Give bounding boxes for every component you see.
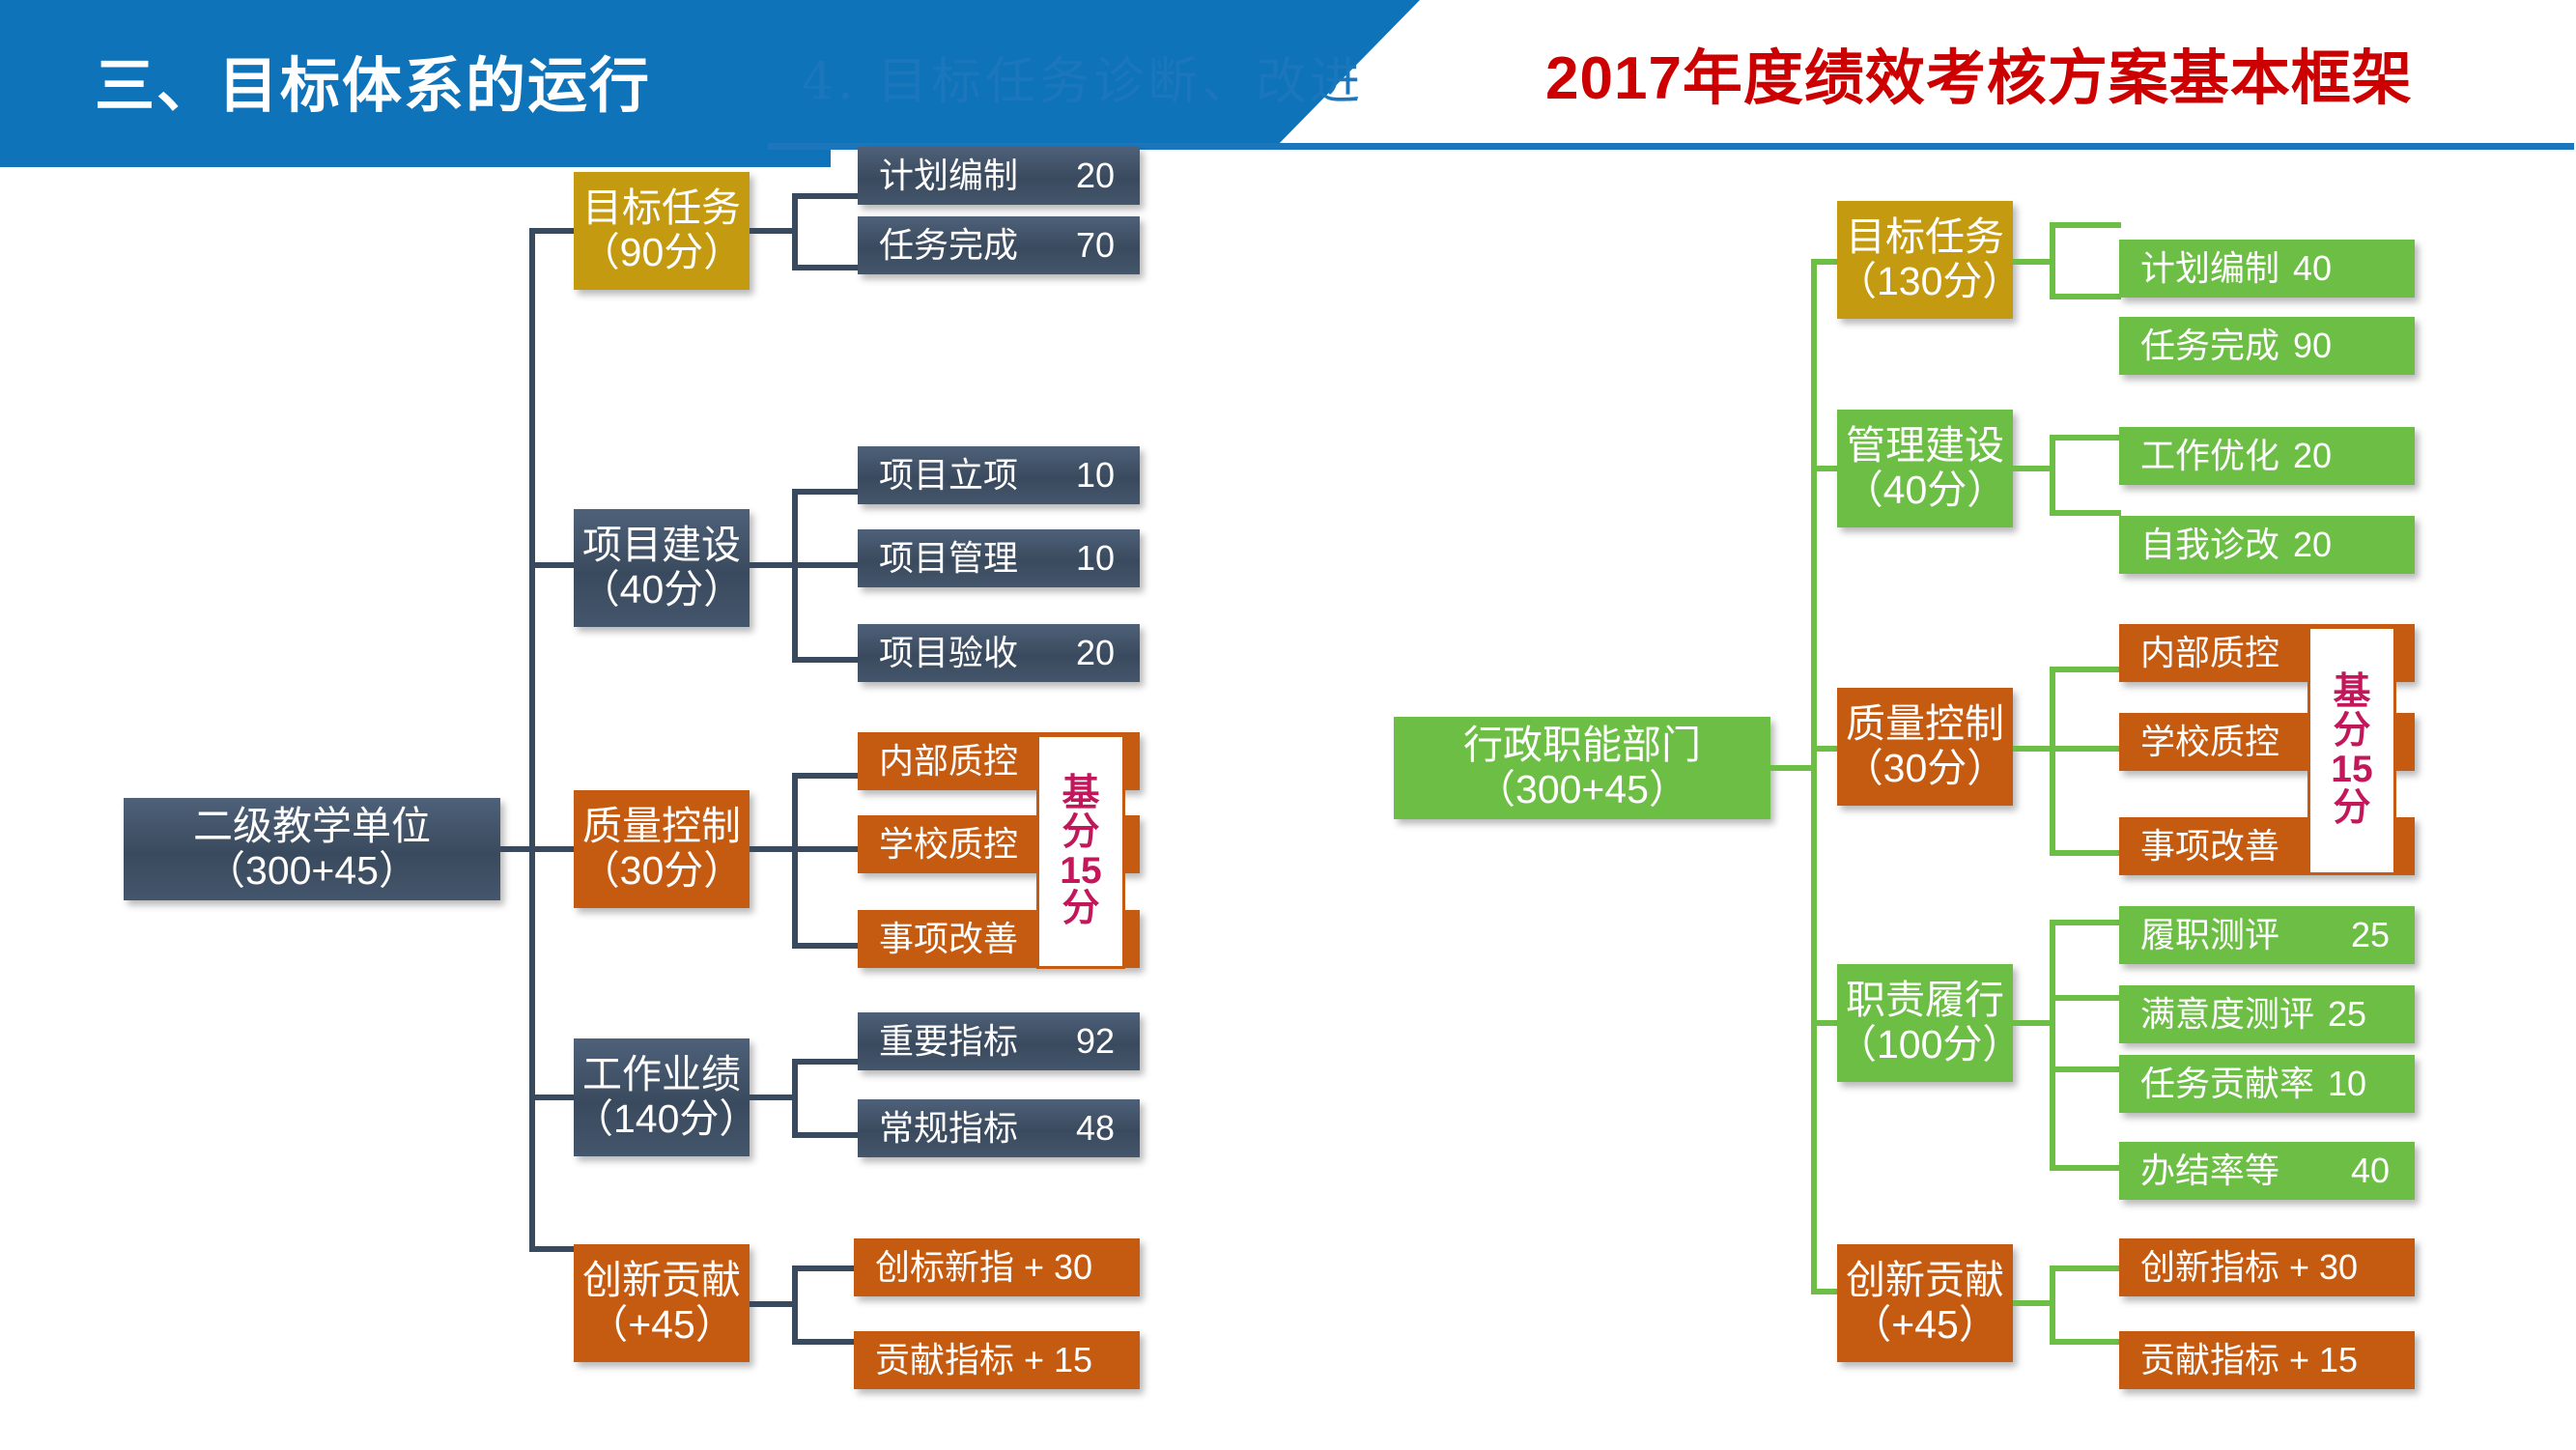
left-leaf-row-4-1: 常规指标 48 [858, 1109, 1140, 1148]
right-leaf-label-4-0: 履职测评 [2119, 916, 2279, 954]
right-b3-leaf1-line [2050, 667, 2121, 672]
section-title: 三、目标体系的运行 [95, 37, 651, 124]
page-header: 三、目标体系的运行 4. 目标任务诊断、改进 2017年度绩效考核方案基本框架 [0, 0, 2576, 155]
left-b5-connector-h [750, 1301, 798, 1307]
right-b5-leaf2-line [2050, 1339, 2121, 1345]
right-branch-node-5: 创新贡献（+45） [1837, 1244, 2013, 1362]
left-branch-label-5: 创新贡献（+45） [582, 1259, 741, 1348]
left-branch1-stub [529, 228, 574, 234]
left-b1-leaf2-line [792, 265, 860, 270]
right-leaf-label-1-0: 计划编制 [2119, 249, 2279, 288]
right-b3-leaf2-line [2050, 746, 2121, 752]
right-branch-node-4: 职责履行（100分） [1837, 964, 2013, 1082]
left-b2-connector-v [792, 489, 798, 663]
left-root-label: 二级教学单位（300+45） [193, 805, 431, 894]
subsection-title: 4. 目标任务诊断、改进 [802, 41, 1364, 113]
left-leaf-value-4-0: 92 [1076, 1022, 1140, 1061]
left-leaf-row-2-1: 项目管理 10 [858, 539, 1140, 578]
right-b2-leaf2-line [2050, 510, 2121, 516]
left-leaf-value-4-1: 48 [1076, 1109, 1140, 1148]
left-branch-node-5: 创新贡献（+45） [574, 1244, 750, 1362]
left-leaf-label-5-1: 贡献指标 + 15 [854, 1341, 1092, 1379]
left-leaf-label-2-0: 项目立项 [858, 456, 1018, 495]
right-b4-leaf4-line [2050, 1165, 2121, 1171]
left-leaf-label-3-1: 学校质控 [858, 825, 1018, 864]
right-branch-label-1: 目标任务（130分） [1837, 215, 2013, 304]
right-leaf-5-1: 贡献指标 + 15 [2119, 1331, 2415, 1389]
right-leaf-4-3: 办结率等 40 [2119, 1142, 2415, 1200]
right-leaf-label-4-2: 任务贡献率 [2119, 1065, 2314, 1103]
left-branch-label-1: 目标任务（90分） [580, 186, 744, 275]
left-b1-leaf1-line [792, 193, 860, 199]
right-leaf-4-1: 满意度测评 25 [2119, 985, 2415, 1043]
left-leaf-row-1-1: 任务完成 70 [858, 226, 1140, 265]
right-b4-connector-v [2050, 920, 2055, 1171]
left-branch-node-3: 质量控制（30分） [574, 790, 750, 908]
left-b3-leaf2-line [792, 846, 860, 852]
right-leaf-label-1-1: 任务完成 [2119, 327, 2279, 365]
right-root-stub [1770, 765, 1817, 771]
right-leaf-label-2-1: 自我诊改 [2119, 526, 2279, 564]
left-leaf-value-2-1: 10 [1076, 539, 1140, 578]
left-b1-connector-v [792, 193, 798, 270]
left-b5-leaf1-line [792, 1265, 856, 1271]
right-leaf-value-2-0: 20 [2293, 437, 2332, 475]
right-leaf-1-1b: 任务完成 90 [2119, 317, 2415, 375]
left-b2-leaf3-line [792, 657, 860, 663]
right-leaf-label-3-0: 内部质控 [2119, 634, 2279, 672]
left-leaf-value-1-1: 70 [1076, 226, 1140, 265]
left-leaf-5-0: 创标新指 + 30 [854, 1238, 1140, 1296]
right-leaf-row-2-1: 自我诊改 20 [2119, 526, 2415, 564]
right-root-node: 行政职能部门（300+45） [1394, 717, 1770, 819]
right-leaf-row-4-3: 办结率等 40 [2119, 1151, 2415, 1190]
left-b3-connector-v [792, 773, 798, 949]
right-leaf-4-2: 任务贡献率 10 [2119, 1055, 2415, 1113]
right-leaf-value-4-1: 25 [2328, 995, 2366, 1034]
left-branch-label-2: 项目建设（40分） [580, 524, 744, 612]
left-b5-connector-v [792, 1265, 798, 1345]
right-leaf-label-4-3: 办结率等 [2119, 1151, 2279, 1190]
left-b4-leaf2-line [792, 1132, 860, 1138]
right-base-score-char1: 基 [2333, 673, 2370, 712]
header-blue-tail-bar [0, 150, 831, 167]
right-leaf-label-3-2: 事项改善 [2119, 827, 2279, 866]
right-base-score-char2: 分 [2333, 712, 2370, 751]
right-base-score-num: 15 [2331, 751, 2372, 789]
right-leaf-row-1-0: 计划编制 40 [2119, 249, 2415, 288]
right-leaf-row-4-2: 任务贡献率 10 [2119, 1065, 2415, 1103]
right-leaf-value-4-0: 25 [2351, 916, 2415, 954]
right-branch-label-3: 质量控制（30分） [1844, 702, 2007, 791]
left-base-score-char1: 基 [1062, 775, 1099, 813]
right-b3-leaf3-line [2050, 850, 2121, 856]
left-leaf-label-1-0: 计划编制 [858, 156, 1018, 195]
left-leaf-label-2-2: 项目验收 [858, 634, 1018, 672]
right-branch-label-5: 创新贡献（+45） [1846, 1259, 2004, 1348]
left-leaf-5-1: 贡献指标 + 15 [854, 1331, 1140, 1389]
left-b2-leaf2-line [792, 562, 860, 568]
right-branch-node-1: 目标任务（130分） [1837, 201, 2013, 319]
left-leaf-row-4-0: 重要指标 92 [858, 1022, 1140, 1061]
left-branch4-stub [529, 1095, 574, 1100]
right-base-score-callout: 基 分 15 分 [2307, 626, 2396, 875]
right-branch-node-3: 质量控制（30分） [1837, 688, 2013, 806]
left-base-score-num: 15 [1060, 852, 1101, 891]
right-leaf-label-2-0: 工作优化 [2119, 437, 2279, 475]
left-leaf-row-2-0: 项目立项 10 [858, 456, 1140, 495]
left-branch-label-3: 质量控制（30分） [580, 805, 744, 894]
left-leaf-1-0: 计划编制 20 [858, 147, 1140, 205]
left-leaf-label-3-2: 事项改善 [858, 920, 1018, 958]
left-root-node: 二级教学单位（300+45） [124, 798, 500, 900]
left-leaf-label-4-1: 常规指标 [858, 1109, 1018, 1148]
right-b1-connector-v [2050, 222, 2055, 299]
right-leaf-row-2-0: 工作优化 20 [2119, 437, 2415, 475]
left-base-score-char2: 分 [1062, 813, 1099, 852]
right-b4-leaf1-line [2050, 920, 2121, 925]
right-b2-leaf1-line [2050, 435, 2121, 441]
left-leaf-value-1-0: 20 [1076, 156, 1140, 195]
right-leaf-value-4-3: 40 [2351, 1151, 2415, 1190]
left-b3-connector-h [750, 846, 798, 852]
left-leaf-label-2-1: 项目管理 [858, 539, 1018, 578]
left-branch-node-4: 工作业绩（140分） [574, 1038, 750, 1156]
right-leaf-label-3-1: 学校质控 [2119, 723, 2279, 761]
right-leaf-2-0: 工作优化 20 [2119, 427, 2415, 485]
left-b4-leaf1-line [792, 1059, 860, 1065]
right-leaf-row-4-1: 满意度测评 25 [2119, 995, 2415, 1034]
right-leaf-5-0: 创新指标 + 30 [2119, 1238, 2415, 1296]
left-leaf-label-3-0: 内部质控 [858, 742, 1018, 781]
right-leaf-value-4-2: 10 [2328, 1065, 2366, 1103]
right-leaf-2-1: 自我诊改 20 [2119, 516, 2415, 574]
right-root-spine [1811, 259, 1817, 1294]
left-b3-leaf1-line [792, 773, 860, 779]
left-leaf-row-5-0: 创标新指 + 30 [854, 1248, 1140, 1287]
right-leaf-1-0: 计划编制 40 [2119, 240, 2415, 298]
left-base-score-char3: 分 [1062, 890, 1099, 928]
right-leaf-row-1-1: 任务完成 90 [2119, 327, 2415, 365]
left-branch5-stub [529, 1246, 574, 1252]
left-leaf-row-5-1: 贡献指标 + 15 [854, 1341, 1140, 1379]
right-b1-leaf1-line [2050, 222, 2121, 228]
right-branch-label-4: 职责履行（100分） [1837, 979, 2013, 1067]
right-b3-connector-v [2050, 667, 2055, 856]
left-branch-node-1: 目标任务（90分） [574, 172, 750, 290]
right-leaf-value-1-1: 90 [2293, 327, 2332, 365]
left-branch-label-4: 工作业绩（140分） [574, 1053, 750, 1142]
left-leaf-label-5-0: 创标新指 + 30 [854, 1248, 1092, 1287]
right-base-score-char3: 分 [2333, 789, 2370, 828]
page-title: 2017年度绩效考核方案基本框架 [1545, 29, 2413, 116]
left-branch-node-2: 项目建设（40分） [574, 509, 750, 627]
left-leaf-label-4-0: 重要指标 [858, 1022, 1018, 1061]
right-leaf-value-1-0: 40 [2293, 249, 2332, 288]
left-leaf-1-1b: 任务完成 70 [858, 216, 1140, 274]
left-b5-leaf2-line [792, 1339, 856, 1345]
left-leaf-2-2: 项目验收 20 [858, 624, 1140, 682]
left-b2-leaf1-line [792, 489, 860, 495]
left-b1-connector-h [750, 228, 798, 234]
right-b5-connector-v [2050, 1265, 2055, 1345]
left-b3-leaf3-line [792, 943, 860, 949]
left-leaf-2-0: 项目立项 10 [858, 446, 1140, 504]
left-b2-connector-h [750, 562, 798, 568]
left-b4-connector-v [792, 1059, 798, 1138]
left-leaf-4-1: 常规指标 48 [858, 1099, 1140, 1157]
right-branch-node-2: 管理建设（40分） [1837, 410, 2013, 527]
left-leaf-row-2-2: 项目验收 20 [858, 634, 1140, 672]
right-branch-label-2: 管理建设（40分） [1844, 424, 2007, 513]
left-leaf-value-2-2: 20 [1076, 634, 1140, 672]
right-leaf-4-0: 履职测评 25 [2119, 906, 2415, 964]
left-b4-connector-h [750, 1095, 798, 1100]
right-root-label: 行政职能部门（300+45） [1463, 724, 1701, 812]
left-leaf-row-1-0: 计划编制 20 [858, 156, 1140, 195]
right-leaf-label-5-0: 创新指标 + 30 [2119, 1248, 2358, 1287]
left-leaf-label-1-1: 任务完成 [858, 226, 1018, 265]
left-branch2-stub [529, 562, 574, 568]
left-base-score-callout: 基 分 15 分 [1036, 734, 1125, 969]
left-leaf-2-1: 项目管理 10 [858, 529, 1140, 587]
right-leaf-row-5-0: 创新指标 + 30 [2119, 1248, 2415, 1287]
right-leaf-row-4-0: 履职测评 25 [2119, 916, 2415, 954]
right-leaf-label-4-1: 满意度测评 [2119, 995, 2314, 1034]
right-b4-leaf3-line [2050, 1066, 2121, 1072]
left-leaf-value-2-0: 10 [1076, 456, 1140, 495]
right-leaf-label-5-1: 贡献指标 + 15 [2119, 1341, 2358, 1379]
right-leaf-row-5-1: 贡献指标 + 15 [2119, 1341, 2415, 1379]
right-b5-leaf1-line [2050, 1265, 2121, 1271]
right-leaf-value-2-1: 20 [2293, 526, 2332, 564]
left-branch3-stub [529, 846, 574, 852]
left-leaf-4-0: 重要指标 92 [858, 1012, 1140, 1070]
right-b4-leaf2-line [2050, 995, 2121, 1001]
right-b2-connector-v [2050, 435, 2055, 516]
right-b1-leaf2-line [2050, 294, 2121, 299]
